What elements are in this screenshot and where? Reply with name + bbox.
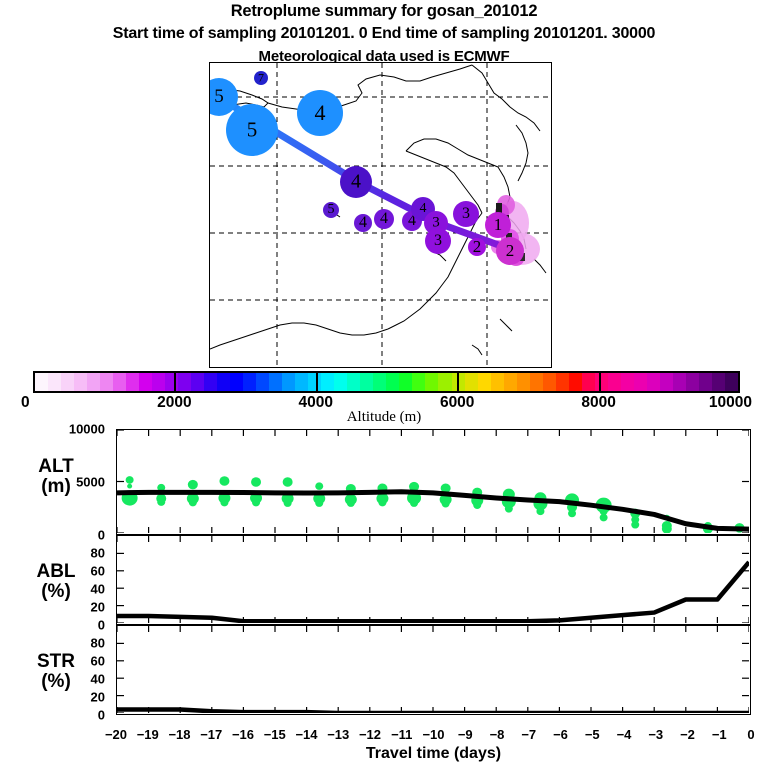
x-tick-6: −14	[295, 727, 317, 742]
x-tick-17: −3	[648, 727, 663, 742]
abl-y-tick-80: 80	[0, 546, 110, 561]
colorbar-swatch-47	[647, 373, 660, 391]
x-tick-4: −16	[232, 727, 254, 742]
colorbar-swatch-19	[282, 373, 295, 391]
colorbar-swatch-45	[621, 373, 634, 391]
x-tick-8: −12	[359, 727, 381, 742]
abl-plot-panel[interactable]	[116, 535, 751, 625]
colorbar-swatch-2	[61, 373, 74, 391]
colorbar-swatch-34	[478, 373, 491, 391]
str-plot-panel[interactable]	[116, 625, 751, 715]
colorbar-swatch-50	[686, 373, 699, 391]
map-marker-label-6: 4	[359, 214, 367, 232]
map-marker-label-1: 5	[247, 118, 258, 143]
colorbar-swatch-43	[595, 373, 608, 391]
x-tick-20: 0	[747, 727, 754, 742]
colorbar-swatch-36	[504, 373, 517, 391]
colorbar-swatch-35	[491, 373, 504, 391]
x-axis-title: Travel time (days)	[116, 745, 751, 763]
abl-plot-graphic	[117, 536, 749, 623]
colorbar-divider-2	[316, 371, 318, 393]
map-marker-label-0: 5	[214, 86, 224, 108]
x-tick-18: −2	[680, 727, 695, 742]
x-tick-7: −13	[327, 727, 349, 742]
colorbar-swatch-20	[295, 373, 308, 391]
colorbar-swatch-48	[660, 373, 673, 391]
colorbar-swatch-14	[217, 373, 230, 391]
str-y-tick-80: 80	[0, 636, 110, 651]
x-tick-9: −11	[391, 727, 412, 742]
retroplume-map[interactable]: 5547454444333212	[209, 62, 552, 368]
alt-y-tick-5000: 5000	[0, 475, 110, 490]
colorbar-swatch-11	[178, 373, 191, 391]
colorbar-swatch-39	[543, 373, 556, 391]
x-tick-15: −5	[585, 727, 600, 742]
abl-y-tick-0: 0	[0, 618, 110, 633]
colorbar-swatch-8	[139, 373, 152, 391]
abl-y-tick-20: 20	[0, 600, 110, 615]
map-marker-label-4: 4	[351, 171, 361, 194]
alt-plot-panel[interactable]	[116, 429, 751, 535]
colorbar-divider-4	[599, 371, 601, 393]
colorbar-swatch-37	[517, 373, 530, 391]
x-tick-19: −1	[712, 727, 727, 742]
page-title: Retroplume summary for gosan_201012	[0, 2, 768, 21]
colorbar-swatch-13	[204, 373, 217, 391]
colorbar-swatch-44	[608, 373, 621, 391]
x-tick-2: −18	[168, 727, 190, 742]
map-marker-label-9: 4	[420, 201, 427, 217]
colorbar-swatch-16	[243, 373, 256, 391]
colorbar-divider-3	[457, 371, 459, 393]
alt-y-tick-10000: 10000	[0, 422, 110, 437]
colorbar-swatch-5	[100, 373, 113, 391]
colorbar-swatch-30	[425, 373, 438, 391]
colorbar-swatch-28	[399, 373, 412, 391]
colorbar-swatch-40	[556, 373, 569, 391]
abl-y-tick-60: 60	[0, 564, 110, 579]
colorbar-swatch-9	[152, 373, 165, 391]
x-tick-11: −9	[458, 727, 473, 742]
x-tick-13: −7	[521, 727, 536, 742]
colorbar-label: Altitude (m)	[0, 409, 768, 426]
colorbar-swatch-33	[465, 373, 478, 391]
sampling-time-text: Start time of sampling 20101201. 0 End t…	[0, 25, 768, 43]
colorbar-divider-1	[174, 371, 176, 393]
map-marker-label-3: 7	[258, 71, 264, 86]
x-tick-1: −19	[137, 727, 159, 742]
altitude-colorbar[interactable]	[33, 371, 740, 393]
map-marker-label-12: 3	[434, 232, 442, 250]
colorbar-swatch-25	[360, 373, 373, 391]
map-marker-label-5: 5	[328, 202, 335, 218]
colorbar-swatch-42	[582, 373, 595, 391]
colorbar-swatch-51	[699, 373, 712, 391]
x-tick-0: −20	[105, 727, 127, 742]
colorbar-swatch-46	[634, 373, 647, 391]
map-marker-label-14: 1	[494, 215, 503, 235]
colorbar-swatch-3	[74, 373, 87, 391]
colorbar-swatch-17	[256, 373, 269, 391]
str-y-tick-40: 40	[0, 672, 110, 687]
colorbar-swatch-27	[386, 373, 399, 391]
x-tick-3: −17	[200, 727, 222, 742]
colorbar-swatch-53	[725, 373, 738, 391]
str-y-tick-0: 0	[0, 708, 110, 723]
colorbar-swatch-6	[113, 373, 126, 391]
colorbar-swatch-24	[347, 373, 360, 391]
colorbar-swatch-12	[191, 373, 204, 391]
colorbar-swatch-7	[126, 373, 139, 391]
alt-y-tick-0: 0	[0, 528, 110, 543]
colorbar-swatch-15	[230, 373, 243, 391]
str-y-tick-60: 60	[0, 654, 110, 669]
colorbar-swatch-22	[321, 373, 334, 391]
colorbar-swatch-49	[673, 373, 686, 391]
str-y-tick-20: 20	[0, 690, 110, 705]
colorbar-swatch-41	[569, 373, 582, 391]
x-tick-16: −4	[617, 727, 632, 742]
x-tick-5: −15	[264, 727, 286, 742]
colorbar-swatch-0	[35, 373, 48, 391]
x-tick-12: −8	[490, 727, 505, 742]
map-marker-label-15: 2	[506, 241, 515, 261]
colorbar-swatch-26	[373, 373, 386, 391]
map-marker-label-7: 4	[380, 210, 388, 228]
x-tick-10: −10	[422, 727, 444, 742]
colorbar-swatch-52	[712, 373, 725, 391]
str-plot-graphic	[117, 626, 749, 713]
map-marker-label-13: 2	[473, 237, 482, 257]
colorbar-swatch-38	[530, 373, 543, 391]
alt-plot-graphic	[117, 430, 749, 533]
colorbar-swatch-1	[48, 373, 61, 391]
colorbar-swatch-18	[269, 373, 282, 391]
map-marker-label-2: 4	[315, 100, 326, 126]
x-tick-14: −6	[553, 727, 568, 742]
map-marker-label-11: 3	[462, 205, 470, 223]
colorbar-swatch-31	[438, 373, 451, 391]
abl-y-tick-40: 40	[0, 582, 110, 597]
colorbar-swatch-23	[334, 373, 347, 391]
colorbar-swatch-4	[87, 373, 100, 391]
colorbar-swatch-29	[412, 373, 425, 391]
